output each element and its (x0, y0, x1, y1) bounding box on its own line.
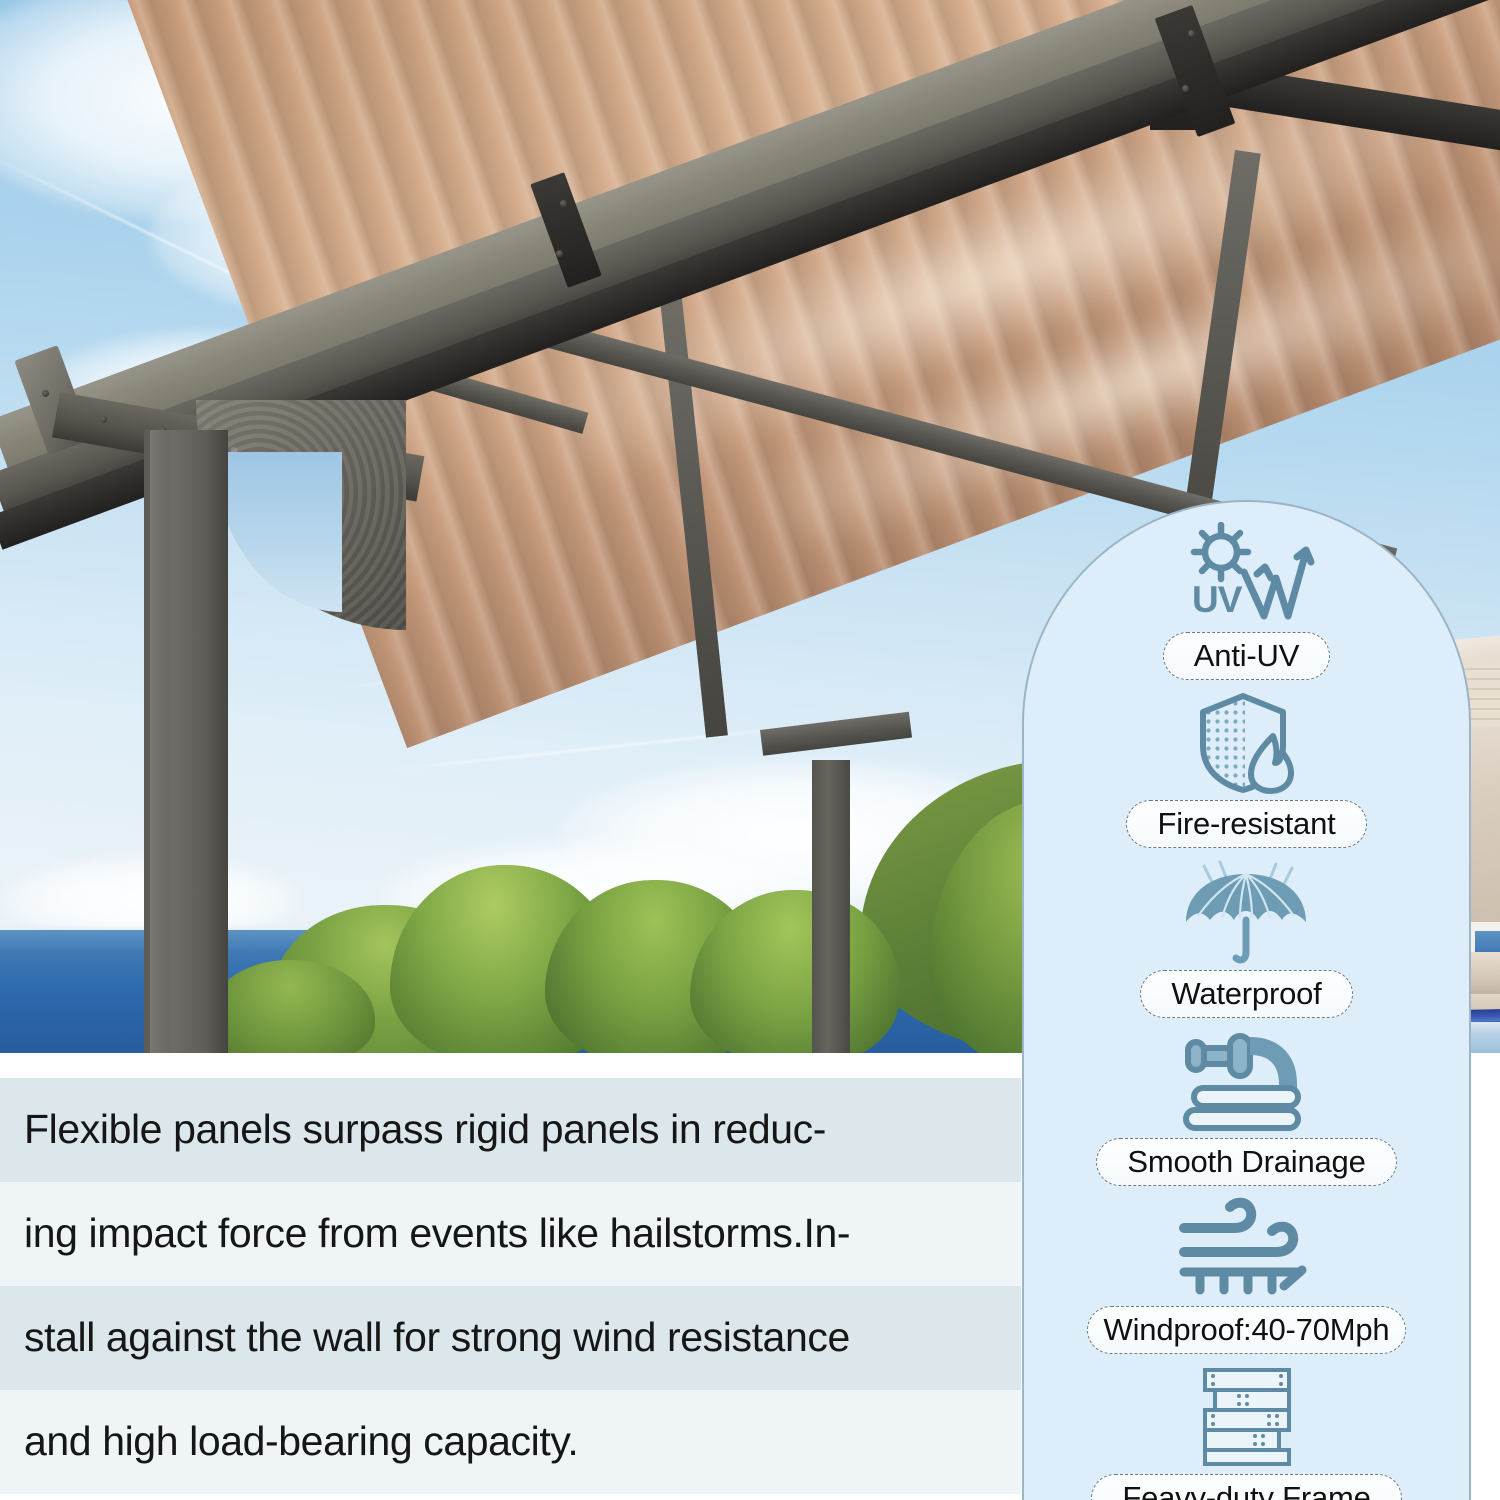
feature-label-heavy-duty-frame: Feavy-duty Frame (1091, 1474, 1401, 1500)
product-description-panel: Flexible panels surpass rigid panels in … (0, 1053, 1021, 1500)
feature-highlights-card: UV Anti-UV (1022, 500, 1471, 1500)
right-white-filler (1471, 1053, 1500, 1500)
post-highlight (150, 430, 168, 1053)
description-line-1: Flexible panels surpass rigid panels in … (0, 1078, 1021, 1182)
wind-gust-icon (1172, 1196, 1322, 1300)
product-feature-image: Flexible panels surpass rigid panels in … (0, 0, 1500, 1500)
description-line-2: ing impact force from events like hailst… (0, 1182, 1021, 1286)
umbrella-rain-icon (1172, 860, 1322, 964)
panel-top-gap (0, 1053, 1021, 1078)
connector-bolt (1188, 30, 1195, 37)
fascia-bolt (42, 390, 49, 397)
svg-text:UV: UV (1192, 579, 1243, 620)
side-beam-bolt (100, 416, 107, 423)
connector-bolt (556, 250, 563, 257)
connector-bolt (560, 200, 567, 207)
feature-label-waterproof: Waterproof (1140, 970, 1352, 1018)
hose-faucet-icon (1172, 1028, 1322, 1132)
feature-label-windproof: Windproof:40-70Mph (1087, 1306, 1407, 1354)
feature-fire-resistant: Fire-resistant (1024, 690, 1469, 848)
frame-grid-icon (1172, 1364, 1322, 1468)
feature-waterproof: Waterproof (1024, 860, 1469, 1018)
shield-flame-icon (1177, 690, 1317, 794)
feature-heavy-duty-frame: Feavy-duty Frame (1024, 1364, 1469, 1500)
description-line-3: stall against the wall for strong wind r… (0, 1286, 1021, 1390)
uv-sun-arrows-icon: UV (1172, 522, 1322, 626)
pergola-post (812, 760, 850, 1053)
description-line-4: and high load-bearing capacity. (0, 1390, 1021, 1494)
feature-label-anti-uv: Anti-UV (1163, 632, 1330, 680)
connector-bolt (1182, 85, 1189, 92)
feature-windproof: Windproof:40-70Mph (1024, 1196, 1469, 1354)
feature-label-fire-resistant: Fire-resistant (1126, 800, 1366, 848)
feature-label-smooth-drainage: Smooth Drainage (1096, 1138, 1396, 1186)
feature-smooth-drainage: Smooth Drainage (1024, 1028, 1469, 1186)
